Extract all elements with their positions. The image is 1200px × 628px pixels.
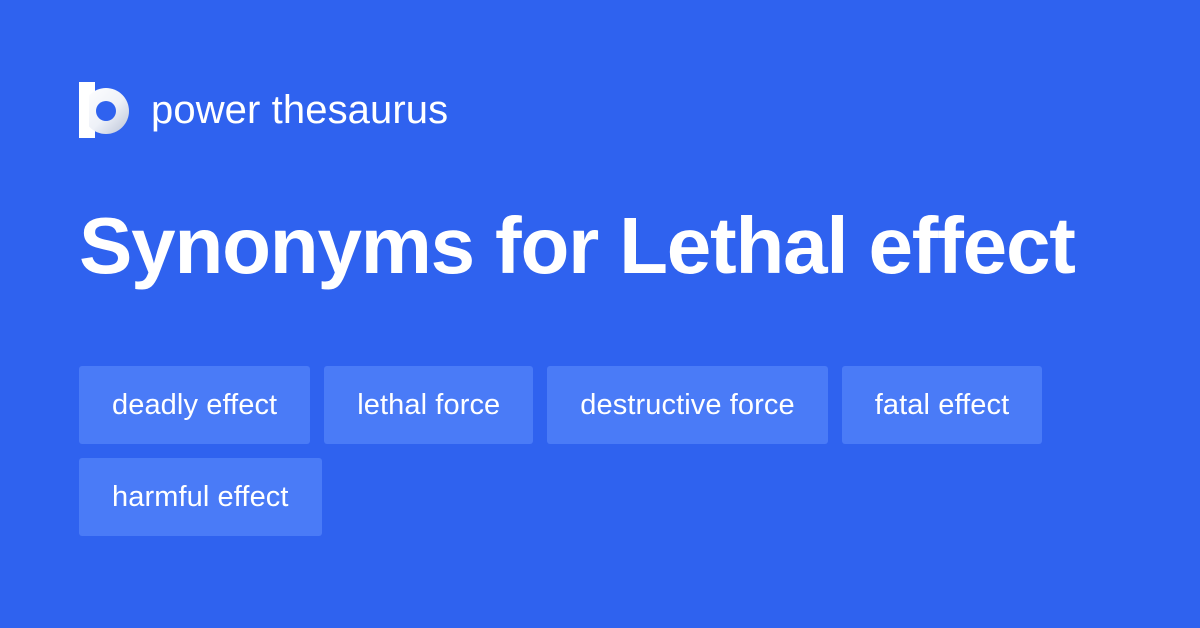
synonym-chip[interactable]: deadly effect: [79, 366, 310, 444]
power-thesaurus-b-logo-icon: [79, 82, 129, 138]
share-card: power thesaurus Synonyms for Lethal effe…: [0, 0, 1200, 628]
synonym-chip[interactable]: harmful effect: [79, 458, 322, 536]
brand-lockup[interactable]: power thesaurus: [79, 82, 448, 138]
page-title: Synonyms for Lethal effect: [79, 198, 1139, 294]
synonym-chip[interactable]: destructive force: [547, 366, 827, 444]
synonym-chip[interactable]: fatal effect: [842, 366, 1042, 444]
brand-name: power thesaurus: [151, 90, 448, 130]
synonym-chip-list: deadly effect lethal force destructive f…: [79, 366, 1119, 536]
synonym-chip[interactable]: lethal force: [324, 366, 533, 444]
